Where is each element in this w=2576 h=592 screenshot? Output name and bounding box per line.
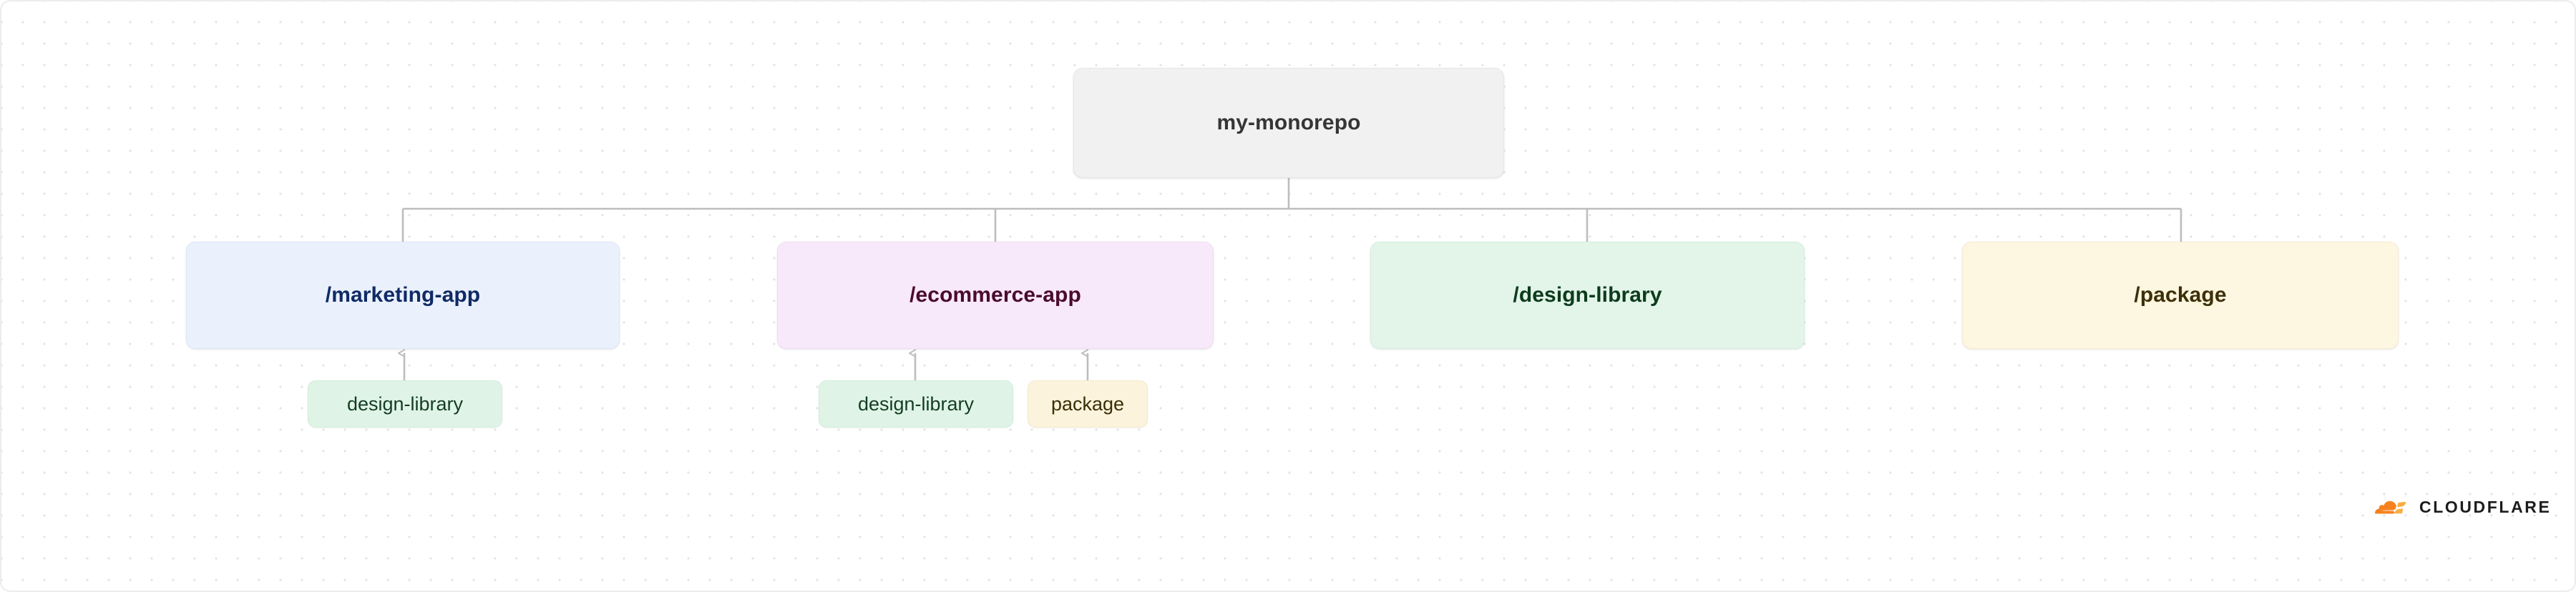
node-label: /package: [2134, 283, 2226, 307]
node-label: /design-library: [1513, 283, 1662, 307]
dependency-chip-ecommerce-package[interactable]: package: [1028, 380, 1148, 428]
cloudflare-wordmark: CLOUDFLARE: [2419, 498, 2551, 517]
dependency-chip-marketing-design-library[interactable]: design-library: [308, 380, 502, 428]
dependency-chip-label: package: [1051, 393, 1124, 415]
node-ecommerce-app[interactable]: /ecommerce-app: [777, 242, 1214, 349]
node-my-monorepo[interactable]: my-monorepo: [1073, 68, 1504, 178]
cloudflare-cloud-icon: [2370, 493, 2411, 521]
node-design-library[interactable]: /design-library: [1370, 242, 1805, 349]
diagram-canvas[interactable]: my-monorepo /marketing-app /ecommerce-ap…: [0, 0, 2576, 592]
cloudflare-logo: CLOUDFLARE: [2370, 493, 2551, 521]
dependency-chip-label: design-library: [347, 393, 463, 415]
dependency-chip-ecommerce-design-library[interactable]: design-library: [819, 380, 1013, 428]
node-package[interactable]: /package: [1962, 242, 2399, 349]
node-label: my-monorepo: [1216, 111, 1360, 135]
dependency-chip-label: design-library: [858, 393, 974, 415]
node-marketing-app[interactable]: /marketing-app: [186, 242, 620, 349]
node-label: /ecommerce-app: [909, 283, 1081, 307]
node-label: /marketing-app: [326, 283, 480, 307]
